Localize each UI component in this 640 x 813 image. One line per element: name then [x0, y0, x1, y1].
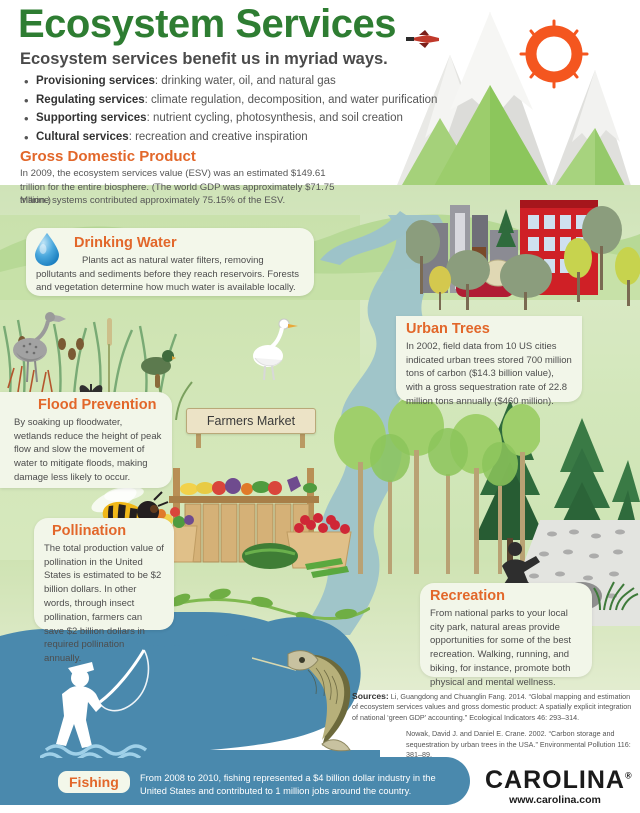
callout-body: By soaking up floodwater, wetlands reduc…	[14, 416, 162, 485]
sources-citation-2: Nowak, David J. and Daniel E. Crane. 200…	[352, 729, 638, 760]
sources-citation-1: Li, Guangdong and Chuanglin Fang. 2014. …	[352, 692, 631, 722]
callout-pollination: Pollination The total production value o…	[34, 518, 174, 630]
page-title: Ecosystem Services	[18, 4, 396, 44]
callout-title: Flood Prevention	[38, 398, 162, 414]
services-bullet-list: Provisioning services: drinking water, o…	[22, 72, 442, 147]
bullet-desc: : nutrient cycling, photosynthesis, and …	[147, 112, 403, 124]
callout-drinking-water: Drinking Water Plants act as natural wat…	[26, 228, 314, 296]
callout-flood-prevention: Flood Prevention By soaking up floodwate…	[0, 392, 172, 488]
bullet-desc: : drinking water, oil, and natural gas	[155, 75, 336, 87]
sources-block: Sources: Li, Guangdong and Chuanglin Fan…	[352, 690, 638, 761]
gdp-heading: Gross Domestic Product	[20, 148, 196, 165]
bullet-term: Supporting services	[36, 112, 147, 124]
bullet-term: Regulating services	[36, 94, 145, 106]
callout-title: Urban Trees	[406, 322, 572, 338]
farmers-market-sign: Farmers Market	[186, 408, 316, 434]
bullet-item: Provisioning services: drinking water, o…	[22, 72, 442, 91]
page-subtitle: Ecosystem services benefit us in myriad …	[20, 50, 388, 69]
callout-title: Recreation	[430, 589, 582, 605]
brand-url[interactable]: www.carolina.com	[485, 794, 625, 806]
fishing-description: From 2008 to 2010, fishing represented a…	[140, 772, 440, 799]
fishing-badge: Fishing	[58, 771, 130, 793]
callout-body: In 2002, field data from 10 US cities in…	[406, 340, 572, 409]
sources-entry-1: Sources: Li, Guangdong and Chuanglin Fan…	[352, 690, 638, 723]
bullet-term: Provisioning services	[36, 75, 155, 87]
brand-logo: CAROLINA® www.carolina.com	[485, 768, 625, 806]
bullet-desc: : climate regulation, decomposition, and…	[145, 94, 438, 106]
farmers-market-label: Farmers Market	[207, 414, 295, 428]
gdp-paragraph-2: Marine systems contributed approximately…	[20, 194, 350, 208]
callout-body: From national parks to your local city p…	[430, 607, 582, 690]
brand-name: CAROLINA®	[485, 768, 625, 793]
bullet-item: Cultural services: recreation and creati…	[22, 128, 442, 147]
brand-name-text: CAROLINA	[485, 766, 625, 794]
callout-title: Pollination	[52, 524, 164, 540]
bullet-item: Supporting services: nutrient cycling, p…	[22, 109, 442, 128]
registered-mark: ®	[625, 771, 633, 781]
infographic-poster: Farmers Market	[0, 0, 640, 813]
callout-title: Drinking Water	[74, 236, 304, 252]
bullet-desc: : recreation and creative inspiration	[129, 131, 308, 143]
callout-body: Plants act as natural water filters, rem…	[36, 254, 304, 295]
callout-recreation: Recreation From national parks to your l…	[420, 583, 592, 677]
bullet-item: Regulating services: climate regulation,…	[22, 91, 442, 110]
sources-label: Sources:	[352, 691, 389, 701]
callout-urban-trees: Urban Trees In 2002, field data from 10 …	[396, 316, 582, 402]
bullet-term: Cultural services	[36, 131, 129, 143]
callout-body: The total production value of pollinatio…	[44, 542, 164, 666]
water-drop-icon	[34, 232, 60, 266]
